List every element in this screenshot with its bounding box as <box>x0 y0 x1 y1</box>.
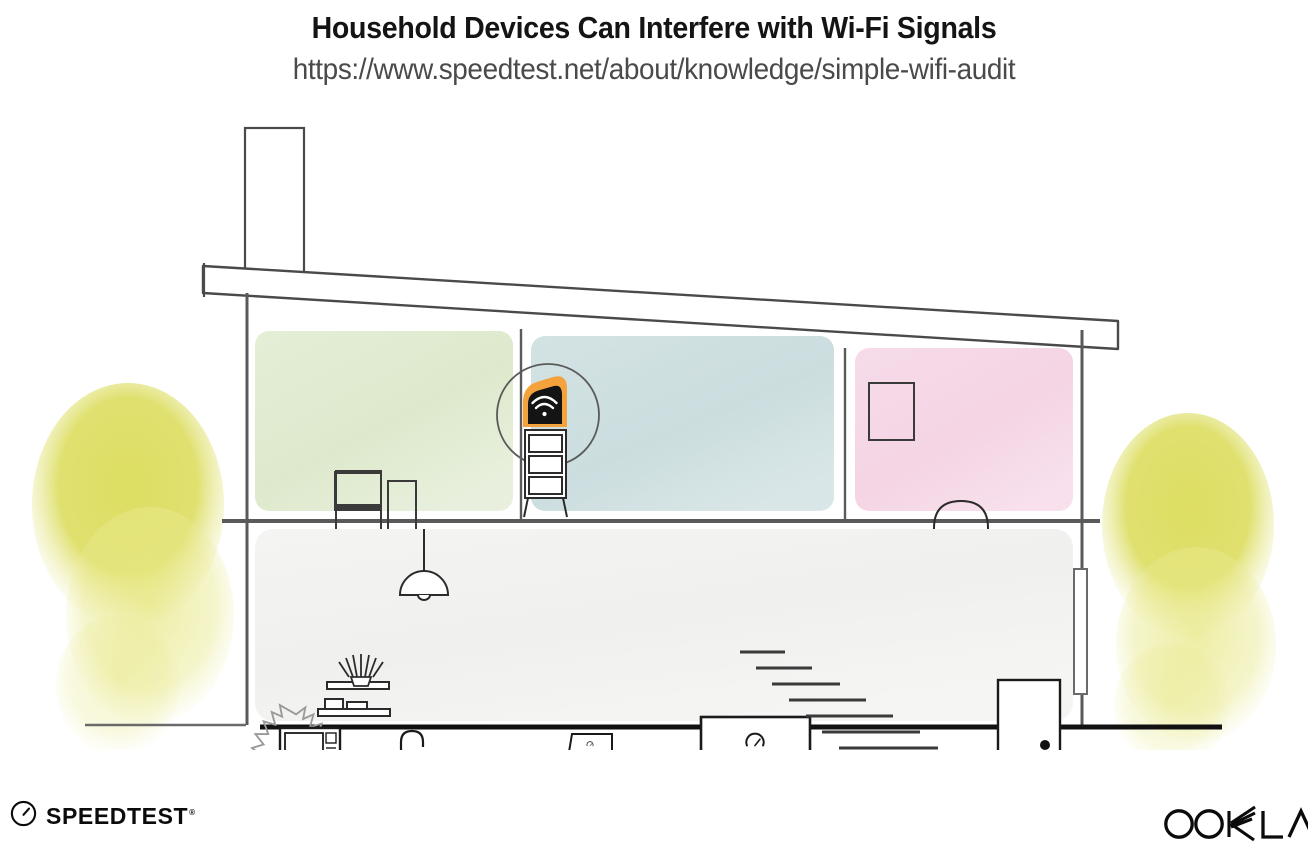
speedometer-gauge-icon <box>10 800 37 832</box>
window-tall-right <box>1074 569 1087 694</box>
microwave[interactable] <box>280 728 340 750</box>
speedtest-wordmark: SPEEDTEST® <box>46 805 196 828</box>
infographic-page: Household Devices Can Interfere with Wi-… <box>0 0 1308 861</box>
wifi-icon-dot <box>542 412 546 416</box>
foliage-right <box>1102 413 1276 750</box>
wifi-router[interactable] <box>523 376 567 427</box>
television[interactable]: SPEEDTEST <box>701 717 810 750</box>
foliage-left <box>32 383 234 750</box>
header: Household Devices Can Interfere with Wi-… <box>0 0 1308 85</box>
chimney <box>245 128 304 273</box>
room-living-kitchen: SPEEDTEST <box>252 529 1073 750</box>
footer: SPEEDTEST® ® <box>0 786 1308 861</box>
ookla-chevron-icon <box>1229 807 1255 840</box>
speedtest-trademark: ® <box>189 808 196 817</box>
speedtest-logo[interactable]: SPEEDTEST® <box>10 800 196 832</box>
door-knob[interactable] <box>1040 740 1050 750</box>
house-illustration: SPEEDTEST <box>0 105 1308 750</box>
speedtest-label: SPEEDTEST <box>46 803 188 829</box>
source-url: https://www.speedtest.net/about/knowledg… <box>46 43 1262 85</box>
roof-assembly <box>203 128 1118 349</box>
front-door[interactable] <box>998 680 1060 750</box>
kitchen-faucet <box>401 731 423 750</box>
laptop[interactable]: SPEEDTEST <box>560 734 620 750</box>
ookla-logo[interactable]: ® <box>1159 802 1308 851</box>
page-title: Household Devices Can Interfere with Wi-… <box>52 0 1255 43</box>
